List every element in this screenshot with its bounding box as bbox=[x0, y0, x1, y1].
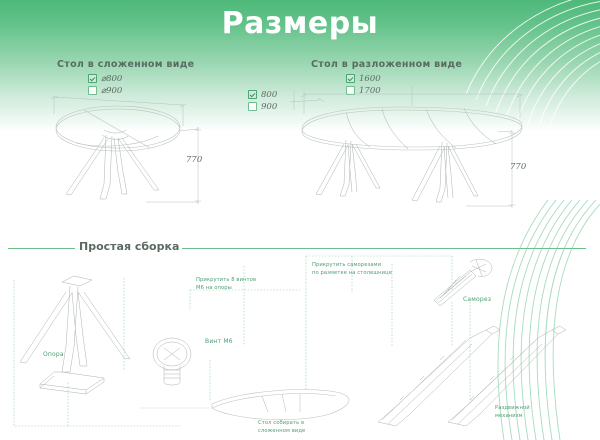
panel-heading-unfolded: Стол в разложенном виде bbox=[311, 59, 462, 70]
option-label: 800 bbox=[261, 90, 277, 100]
panel-heading-folded: Стол в сложенном виде bbox=[57, 59, 194, 70]
part-label-self-tapper: Саморез bbox=[463, 296, 491, 303]
part-label-slide-mechanism: Раздвижной механизм bbox=[495, 405, 530, 421]
slide-mechanism-illustration bbox=[378, 326, 566, 426]
part-label-bolt: Винт М6 bbox=[205, 338, 233, 345]
option-label: 900 bbox=[261, 102, 277, 112]
infographic-page: Размеры Стол в сложенном виде Стол в раз… bbox=[0, 0, 600, 440]
callout-line-1: Прикрутить 8 винтов bbox=[196, 277, 256, 285]
option-row[interactable]: 900 bbox=[248, 101, 277, 112]
callout-line-1: Прикрутить саморезами bbox=[312, 262, 392, 270]
part-label-support: Опора bbox=[43, 351, 64, 358]
option-row[interactable]: 800 bbox=[248, 89, 277, 100]
checkbox-unchecked-icon[interactable] bbox=[248, 102, 257, 111]
option-row[interactable]: 1600 bbox=[346, 73, 381, 84]
option-row[interactable]: ⌀800 bbox=[88, 73, 122, 84]
height-dimension-unfolded: 770 bbox=[510, 162, 526, 172]
option-group-width: 800 900 bbox=[248, 89, 277, 113]
divider-line-left bbox=[8, 248, 75, 249]
part-label-line-2: механизм bbox=[495, 413, 530, 421]
height-dimension-folded: 770 bbox=[186, 155, 202, 165]
checkbox-checked-icon[interactable] bbox=[248, 90, 257, 99]
part-label-line-1: Раздвижной bbox=[495, 405, 530, 413]
checkbox-checked-icon[interactable] bbox=[88, 74, 97, 83]
option-label: ⌀800 bbox=[101, 74, 122, 84]
option-label: 1600 bbox=[359, 74, 381, 84]
callout-self-tapping: Прикрутить саморезами по разметке на сто… bbox=[312, 262, 392, 278]
divider-line-right bbox=[182, 248, 586, 249]
callout-line-2: сложенном виде bbox=[258, 428, 305, 436]
callout-line-2: по разметке на столешнице bbox=[312, 270, 392, 278]
bolt-illustration bbox=[153, 338, 191, 385]
callout-screws: Прикрутить 8 винтов М6 на опоры bbox=[196, 277, 256, 293]
page-title: Размеры bbox=[0, 6, 600, 41]
callout-line-2: М6 на опоры bbox=[196, 285, 256, 293]
callout-fold-note: Стол собирать в сложенном виде bbox=[258, 420, 305, 436]
folded-table-drawing bbox=[46, 86, 246, 211]
checkbox-checked-icon[interactable] bbox=[346, 74, 355, 83]
unfolded-table-drawing bbox=[290, 84, 550, 214]
callout-line-1: Стол собирать в bbox=[258, 420, 305, 428]
